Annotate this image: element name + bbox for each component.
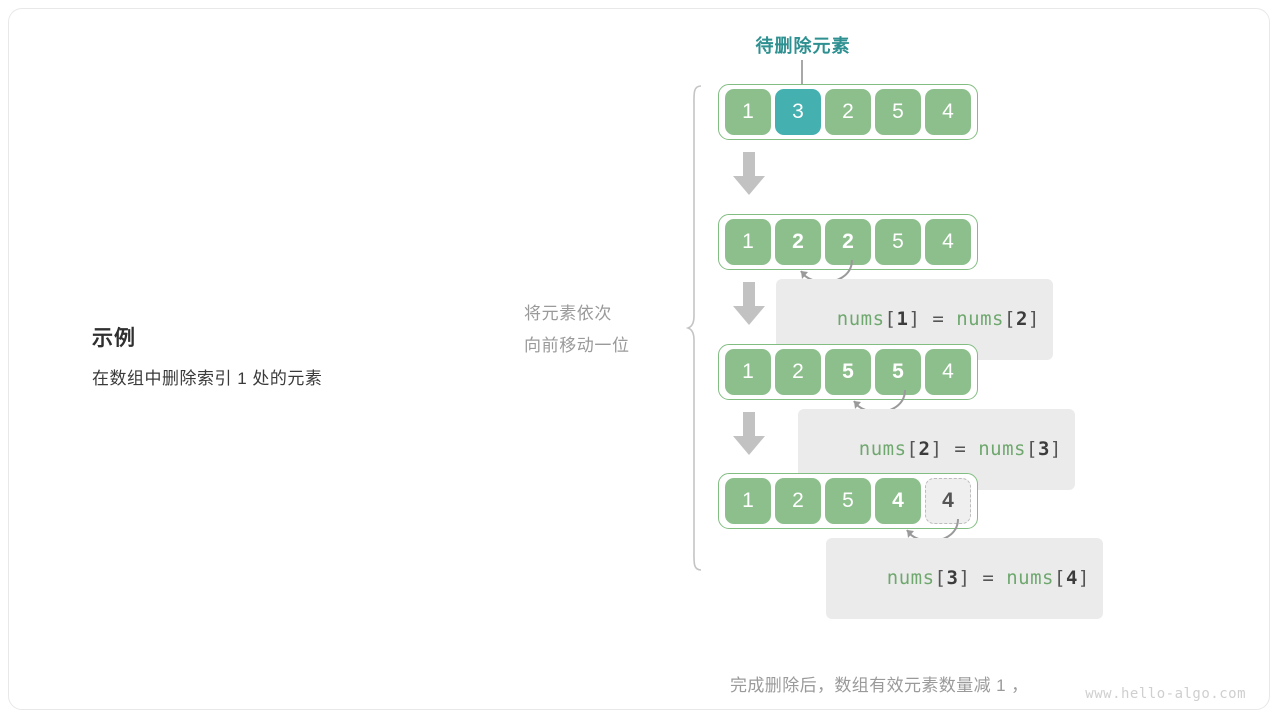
code-operator: = (942, 438, 978, 460)
code-fn: nums (859, 438, 907, 460)
array-cell[interactable]: 4 (925, 89, 971, 135)
array-container-3: 1 2 5 5 4 (718, 344, 978, 400)
code-index: 4 (1066, 567, 1078, 589)
array-container-2: 1 2 2 5 4 (718, 214, 978, 270)
array-container-4: 1 2 5 4 4 (718, 473, 978, 529)
code-operator: = (920, 308, 956, 330)
down-arrow-icon (732, 412, 766, 456)
code-fn: nums (1006, 567, 1054, 589)
array-cell-highlighted[interactable]: 3 (775, 89, 821, 135)
shift-caption-line2: 向前移动一位 (524, 330, 684, 362)
delete-target-label: 待删除元素 (718, 32, 888, 58)
array-cell-obsolete[interactable]: 4 (925, 478, 971, 524)
array-cell[interactable]: 2 (775, 478, 821, 524)
array-row-4: 1 2 5 4 4 (718, 473, 978, 529)
array-cell-updated[interactable]: 2 (775, 219, 821, 265)
code-operator: = (970, 567, 1006, 589)
array-cell-updated[interactable]: 5 (825, 349, 871, 395)
code-fn: nums (956, 308, 1004, 330)
array-cell-source[interactable]: 5 (875, 349, 921, 395)
shift-caption: 将元素依次 向前移动一位 (524, 298, 684, 362)
figure-canvas: 待删除元素 示例 在数组中删除索引 1 处的元素 将元素依次 向前移动一位 1 … (0, 0, 1280, 720)
code-index: 2 (1016, 308, 1028, 330)
code-index: 2 (918, 438, 930, 460)
array-row-1: 1 3 2 5 4 (718, 84, 978, 140)
array-container-1: 1 3 2 5 4 (718, 84, 978, 140)
example-title: 示例 (92, 322, 492, 352)
array-cell[interactable]: 2 (825, 89, 871, 135)
code-index: 3 (1038, 438, 1050, 460)
array-cell[interactable]: 4 (925, 349, 971, 395)
example-block: 示例 在数组中删除索引 1 处的元素 (92, 322, 492, 389)
array-cell-source[interactable]: 2 (825, 219, 871, 265)
array-cell[interactable]: 1 (725, 219, 771, 265)
array-cell[interactable]: 1 (725, 478, 771, 524)
shift-caption-line1: 将元素依次 (524, 298, 684, 330)
code-index: 1 (896, 308, 908, 330)
example-subtitle: 在数组中删除索引 1 处的元素 (92, 364, 492, 389)
array-cell[interactable]: 2 (775, 349, 821, 395)
watermark: www.hello-algo.com (1085, 686, 1246, 702)
array-cell[interactable]: 4 (925, 219, 971, 265)
grouping-brace (686, 84, 704, 572)
array-cell[interactable]: 5 (875, 89, 921, 135)
array-cell[interactable]: 1 (725, 349, 771, 395)
down-arrow-icon (732, 152, 766, 196)
code-fn: nums (887, 567, 935, 589)
array-cell-updated[interactable]: 4 (875, 478, 921, 524)
array-row-2: 1 2 2 5 4 (718, 214, 978, 270)
code-fn: nums (837, 308, 885, 330)
array-cell[interactable]: 5 (825, 478, 871, 524)
down-arrow-icon (732, 282, 766, 326)
array-cell[interactable]: 1 (725, 89, 771, 135)
code-index: 3 (946, 567, 958, 589)
array-cell[interactable]: 5 (875, 219, 921, 265)
code-fn: nums (978, 438, 1026, 460)
array-row-3: 1 2 5 5 4 (718, 344, 978, 400)
